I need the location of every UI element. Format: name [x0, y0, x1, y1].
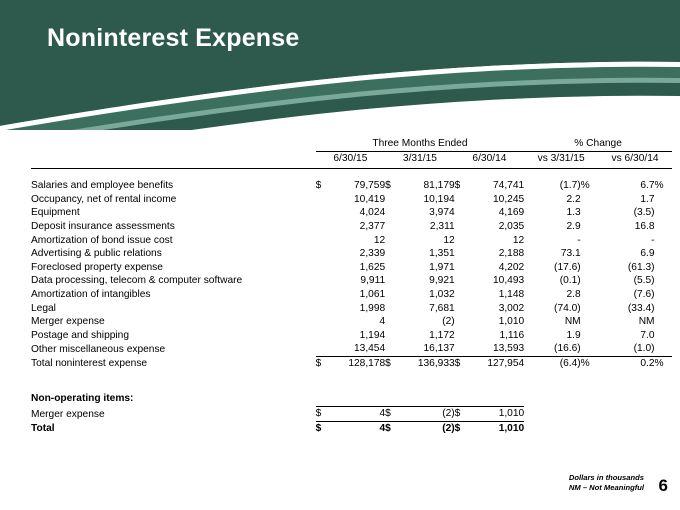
- row-currency-2: $: [385, 179, 398, 193]
- row-pct-1-sign: [581, 193, 598, 207]
- total-currency-1: $: [316, 356, 329, 370]
- row-pct-2: (1.0): [598, 342, 654, 356]
- total-value-3: 127,954: [468, 356, 524, 370]
- row-pct-2-sign-empty: [655, 407, 672, 422]
- total-currency-2: $: [385, 422, 398, 437]
- row-value-2: 9,921: [398, 274, 454, 288]
- table-row: Amortization of bond issue cost 12 12 12…: [31, 234, 672, 248]
- row-label: Advertising & public relations: [31, 247, 316, 261]
- row-currency-1: [316, 302, 329, 316]
- row-value-1: 4: [329, 407, 385, 422]
- row-currency-1: [316, 274, 329, 288]
- row-value-3: 2,188: [468, 247, 524, 261]
- row-value-2: 1,172: [398, 329, 454, 343]
- total-value-2: (2): [398, 422, 454, 437]
- row-label: Amortization of intangibles: [31, 288, 316, 302]
- row-pct-2-sign: [655, 274, 672, 288]
- row-label: Merger expense: [31, 407, 316, 422]
- row-value-1: 4: [329, 315, 385, 329]
- row-value-2: 7,681: [398, 302, 454, 316]
- row-currency-2: [385, 206, 398, 220]
- non-operating-section-title: Non-operating items:: [31, 392, 672, 407]
- row-label: Other miscellaneous expense: [31, 342, 316, 356]
- total-currency-2: $: [385, 356, 398, 370]
- row-pct-1-sign-empty: [581, 407, 598, 422]
- non-operating-total-row: Total $ 4 $ (2) $ 1,010: [31, 422, 672, 437]
- row-pct-2-sign: [655, 315, 672, 329]
- row-currency-1: [316, 220, 329, 234]
- row-pct-2-sign: [655, 247, 672, 261]
- row-currency-1: [316, 247, 329, 261]
- total-pct-1-sign: %: [581, 356, 598, 370]
- row-value-1: 13,454: [329, 342, 385, 356]
- row-currency-2: [385, 342, 398, 356]
- row-value-2: (2): [398, 315, 454, 329]
- row-value-3: 1,116: [468, 329, 524, 343]
- row-pct-1: (0.1): [524, 274, 580, 288]
- row-value-2: 1,351: [398, 247, 454, 261]
- row-pct-2: -: [598, 234, 654, 248]
- row-currency-2: [385, 220, 398, 234]
- row-value-3: 3,002: [468, 302, 524, 316]
- row-currency-2: $: [385, 407, 398, 422]
- row-pct-1-sign: [581, 234, 598, 248]
- row-label: Merger expense: [31, 315, 316, 329]
- row-label: Amortization of bond issue cost: [31, 234, 316, 248]
- header-swoosh-graphic: [0, 0, 680, 130]
- row-pct-2-sign: [655, 302, 672, 316]
- row-currency-1: [316, 261, 329, 275]
- table-row: Advertising & public relations 2,339 1,3…: [31, 247, 672, 261]
- total-pct-2-sign-empty: [655, 422, 672, 437]
- total-row-label: Total: [31, 422, 316, 437]
- total-value-3: 1,010: [468, 422, 524, 437]
- row-pct-2-sign: [655, 329, 672, 343]
- row-currency-1: [316, 234, 329, 248]
- table-row: Amortization of intangibles 1,061 1,032 …: [31, 288, 672, 302]
- non-operating-items-table: Non-operating items: Merger expense $ 4 …: [31, 392, 672, 436]
- column-header-3-31-15: 3/31/15: [385, 151, 455, 165]
- table-row: Equipment 4,024 3,974 4,169 1.3 (3.5): [31, 206, 672, 220]
- row-currency-3: [455, 329, 468, 343]
- row-currency-2: [385, 274, 398, 288]
- row-pct-2-sign: [655, 234, 672, 248]
- total-currency-1: $: [316, 422, 329, 437]
- row-currency-3: [455, 206, 468, 220]
- row-currency-1: [316, 315, 329, 329]
- row-pct-2-sign: [655, 193, 672, 207]
- footer-line-nm: NM – Not Meaningful: [569, 483, 644, 493]
- total-row-label: Total noninterest expense: [31, 356, 316, 370]
- row-value-3: 74,741: [468, 179, 524, 193]
- header-gap-cell: [31, 169, 672, 180]
- header-gap-row: [31, 169, 672, 180]
- group-header-spacer: [31, 137, 316, 151]
- row-value-3: 10,245: [468, 193, 524, 207]
- row-currency-3: [455, 302, 468, 316]
- group-header-three-months: Three Months Ended: [316, 137, 525, 151]
- row-pct-1: 1.3: [524, 206, 580, 220]
- row-pct-1: 2.2: [524, 193, 580, 207]
- row-value-3: 4,169: [468, 206, 524, 220]
- row-label: Salaries and employee benefits: [31, 179, 316, 193]
- row-pct-1: (16.6): [524, 342, 580, 356]
- row-pct-2: (5.5): [598, 274, 654, 288]
- row-value-2: 16,137: [398, 342, 454, 356]
- row-value-1: 10,419: [329, 193, 385, 207]
- total-pct-2: 0.2: [598, 356, 654, 370]
- row-value-2: 1,032: [398, 288, 454, 302]
- row-label: Legal: [31, 302, 316, 316]
- row-value-1: 2,339: [329, 247, 385, 261]
- row-currency-2: [385, 329, 398, 343]
- row-value-2: 1,971: [398, 261, 454, 275]
- row-pct-1-sign: [581, 220, 598, 234]
- row-currency-1: [316, 342, 329, 356]
- column-header-spacer: [31, 151, 316, 165]
- row-value-2: 12: [398, 234, 454, 248]
- row-pct-2: 16.8: [598, 220, 654, 234]
- header-banner: Noninterest Expense: [0, 0, 680, 130]
- row-pct-2-sign: [655, 288, 672, 302]
- row-currency-2: [385, 247, 398, 261]
- row-pct-2: 6.9: [598, 247, 654, 261]
- page-number: 6: [659, 476, 668, 496]
- table-row: Deposit insurance assessments 2,377 2,31…: [31, 220, 672, 234]
- row-pct-1-empty: [524, 407, 580, 422]
- row-value-1: 79,759: [329, 179, 385, 193]
- row-value-3: 10,493: [468, 274, 524, 288]
- total-pct-2-sign: %: [655, 356, 672, 370]
- table-row: Legal 1,998 7,681 3,002 (74.0) (33.4): [31, 302, 672, 316]
- row-value-1: 9,911: [329, 274, 385, 288]
- row-value-1: 1,625: [329, 261, 385, 275]
- footer-note: Dollars in thousands NM – Not Meaningful: [569, 473, 644, 492]
- row-pct-1-sign: [581, 315, 598, 329]
- column-header-row: 6/30/15 3/31/15 6/30/14 vs 3/31/15 vs 6/…: [31, 151, 672, 165]
- total-pct-1-empty: [524, 422, 580, 437]
- column-header-6-30-14: 6/30/14: [455, 151, 525, 165]
- row-currency-2: [385, 288, 398, 302]
- row-value-3: 1,010: [468, 315, 524, 329]
- row-label: Equipment: [31, 206, 316, 220]
- column-header-vs-3-31-15: vs 3/31/15: [524, 151, 598, 165]
- row-value-2: 3,974: [398, 206, 454, 220]
- total-value-2: 136,933: [398, 356, 454, 370]
- row-pct-1: 73.1: [524, 247, 580, 261]
- row-value-1: 1,998: [329, 302, 385, 316]
- row-pct-2-sign: [655, 261, 672, 275]
- row-pct-2-sign: [655, 220, 672, 234]
- row-currency-3: [455, 261, 468, 275]
- total-pct-1: (6.4): [524, 356, 580, 370]
- row-pct-2: (3.5): [598, 206, 654, 220]
- row-pct-1: 1.9: [524, 329, 580, 343]
- row-label: Occupancy, net of rental income: [31, 193, 316, 207]
- row-currency-1: $: [316, 179, 329, 193]
- row-pct-1: (17.6): [524, 261, 580, 275]
- row-currency-3: [455, 342, 468, 356]
- row-pct-2: (7.6): [598, 288, 654, 302]
- row-currency-3: [455, 247, 468, 261]
- row-value-3: 2,035: [468, 220, 524, 234]
- row-value-3: 1,010: [468, 407, 524, 422]
- group-header-row: Three Months Ended % Change: [31, 137, 672, 151]
- table-row: Salaries and employee benefits $ 79,759 …: [31, 179, 672, 193]
- total-value-1: 4: [329, 422, 385, 437]
- row-pct-1-sign: [581, 302, 598, 316]
- row-pct-2: 7.0: [598, 329, 654, 343]
- total-pct-1-sign-empty: [581, 422, 598, 437]
- row-pct-1: 2.9: [524, 220, 580, 234]
- row-value-2: (2): [398, 407, 454, 422]
- row-value-2: 10,194: [398, 193, 454, 207]
- row-pct-1-sign: [581, 288, 598, 302]
- table-row: Data processing, telecom & computer soft…: [31, 274, 672, 288]
- row-pct-1-sign: [581, 261, 598, 275]
- row-currency-1: $: [316, 407, 329, 422]
- table-row: Postage and shipping 1,194 1,172 1,116 1…: [31, 329, 672, 343]
- footer-line-dollars: Dollars in thousands: [569, 473, 644, 483]
- row-pct-1-sign: [581, 247, 598, 261]
- row-currency-3: [455, 288, 468, 302]
- row-currency-2: [385, 315, 398, 329]
- row-value-1: 1,061: [329, 288, 385, 302]
- row-currency-3: $: [455, 179, 468, 193]
- row-value-2: 2,311: [398, 220, 454, 234]
- row-pct-2: 6.7: [598, 179, 654, 193]
- row-currency-1: [316, 288, 329, 302]
- row-pct-1-sign: [581, 342, 598, 356]
- row-value-3: 4,202: [468, 261, 524, 275]
- table-total-row: Total noninterest expense $ 128,178 $ 13…: [31, 356, 672, 370]
- table-row: Foreclosed property expense 1,625 1,971 …: [31, 261, 672, 275]
- row-pct-2-sign: %: [655, 179, 672, 193]
- row-pct-1: NM: [524, 315, 580, 329]
- row-label: Deposit insurance assessments: [31, 220, 316, 234]
- row-pct-1-sign: [581, 206, 598, 220]
- table-row: Merger expense 4 (2) 1,010 NM NM: [31, 315, 672, 329]
- row-pct-1: -: [524, 234, 580, 248]
- row-currency-1: [316, 329, 329, 343]
- total-value-1: 128,178: [329, 356, 385, 370]
- row-currency-3: $: [455, 407, 468, 422]
- table-row: Other miscellaneous expense 13,454 16,13…: [31, 342, 672, 356]
- row-currency-2: [385, 261, 398, 275]
- row-value-1: 2,377: [329, 220, 385, 234]
- row-value-1: 1,194: [329, 329, 385, 343]
- row-pct-1-sign: [581, 274, 598, 288]
- row-currency-3: [455, 193, 468, 207]
- row-pct-2: (33.4): [598, 302, 654, 316]
- noninterest-expense-table: Three Months Ended % Change 6/30/15 3/31…: [31, 137, 672, 371]
- row-pct-1-sign: %: [581, 179, 598, 193]
- row-pct-1: (74.0): [524, 302, 580, 316]
- row-label: Data processing, telecom & computer soft…: [31, 274, 316, 288]
- row-pct-2-sign: [655, 206, 672, 220]
- row-currency-3: [455, 274, 468, 288]
- row-pct-2: NM: [598, 315, 654, 329]
- row-currency-3: [455, 220, 468, 234]
- row-currency-2: [385, 234, 398, 248]
- row-value-3: 13,593: [468, 342, 524, 356]
- row-label: Postage and shipping: [31, 329, 316, 343]
- row-pct-2-empty: [598, 407, 654, 422]
- row-value-3: 1,148: [468, 288, 524, 302]
- non-operating-section-title-row: Non-operating items:: [31, 392, 672, 407]
- row-value-2: 81,179: [398, 179, 454, 193]
- row-pct-2-sign: [655, 342, 672, 356]
- row-pct-2: (61.3): [598, 261, 654, 275]
- row-currency-1: [316, 206, 329, 220]
- row-pct-1-sign: [581, 329, 598, 343]
- row-value-1: 12: [329, 234, 385, 248]
- row-currency-3: [455, 234, 468, 248]
- row-currency-2: [385, 302, 398, 316]
- group-header-pct-change: % Change: [524, 137, 672, 151]
- row-currency-1: [316, 193, 329, 207]
- row-pct-1: (1.7): [524, 179, 580, 193]
- row-value-1: 4,024: [329, 206, 385, 220]
- row-currency-3: [455, 315, 468, 329]
- column-header-6-30-15: 6/30/15: [316, 151, 386, 165]
- column-header-vs-6-30-14: vs 6/30/14: [598, 151, 672, 165]
- row-currency-2: [385, 193, 398, 207]
- page-title: Noninterest Expense: [47, 24, 299, 53]
- total-currency-3: $: [455, 422, 468, 437]
- row-pct-2: 1.7: [598, 193, 654, 207]
- total-currency-3: $: [455, 356, 468, 370]
- row-pct-1: 2.8: [524, 288, 580, 302]
- table-row: Occupancy, net of rental income 10,419 1…: [31, 193, 672, 207]
- row-value-3: 12: [468, 234, 524, 248]
- total-pct-2-empty: [598, 422, 654, 437]
- non-operating-row: Merger expense $ 4 $ (2) $ 1,010: [31, 407, 672, 422]
- row-label: Foreclosed property expense: [31, 261, 316, 275]
